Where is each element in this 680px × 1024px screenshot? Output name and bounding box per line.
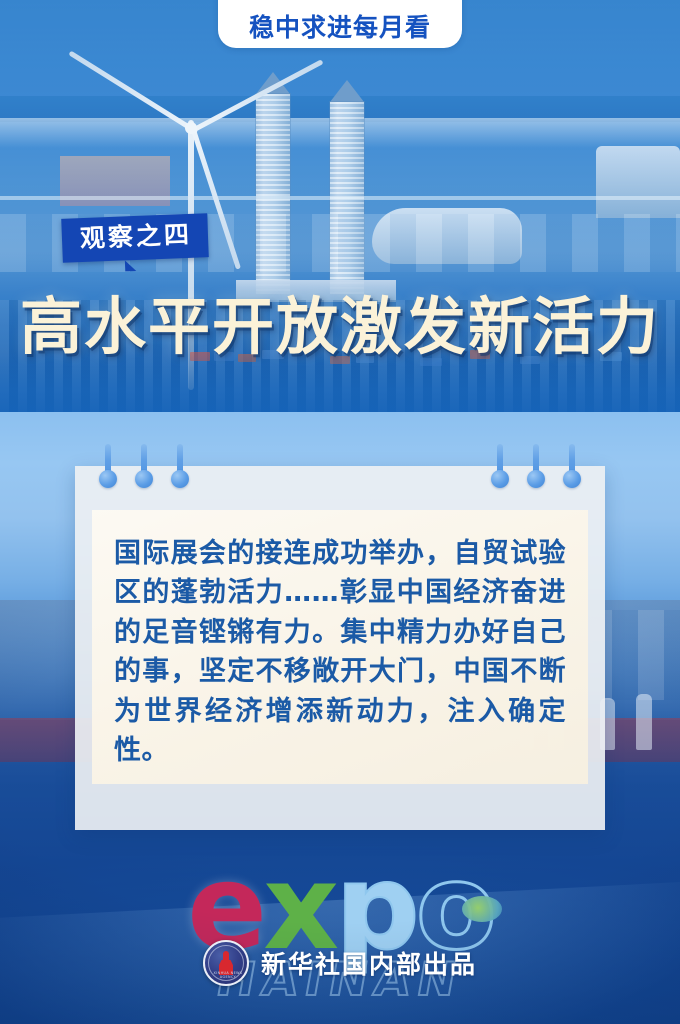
right-building xyxy=(596,146,680,218)
header-badge-label: 稳中求进每月看 xyxy=(249,15,431,40)
road-line xyxy=(0,196,680,200)
poster-root: 稳中求进每月看 观察之四 高水平开放激发新活力 expo HAINAN xyxy=(0,0,680,1024)
quote-card-paper: 国际展会的接连成功举办，自贸试验区的蓬勃活力……彰显中国经济奋进的足音铿锵有力。… xyxy=(92,510,588,784)
quote-text: 国际展会的接连成功举办，自贸试验区的蓬勃活力……彰显中国经济奋进的足音铿锵有力。… xyxy=(114,534,566,770)
card-pins xyxy=(75,444,605,514)
header-badge: 稳中求进每月看 xyxy=(218,0,462,48)
page-title: 高水平开放激发新活力 xyxy=(0,296,680,358)
logo-ring-text: XINHUA NEWS AGENCY xyxy=(205,971,249,981)
footer-credit: 新华社国内部出品 xyxy=(261,945,477,981)
series-tag-label: 观察之四 xyxy=(61,213,209,262)
series-tag: 观察之四 xyxy=(61,213,209,262)
quote-card: 国际展会的接连成功举办，自贸试验区的蓬勃活力……彰显中国经济奋进的足音铿锵有力。… xyxy=(75,466,605,830)
wind-turbine-hub xyxy=(185,122,197,134)
tower-roof-right xyxy=(330,80,364,102)
series-tag-notch xyxy=(125,259,136,270)
footer: XINHUA NEWS AGENCY 新华社国内部出品 xyxy=(0,940,680,986)
xinhua-logo-icon: XINHUA NEWS AGENCY xyxy=(203,940,249,986)
